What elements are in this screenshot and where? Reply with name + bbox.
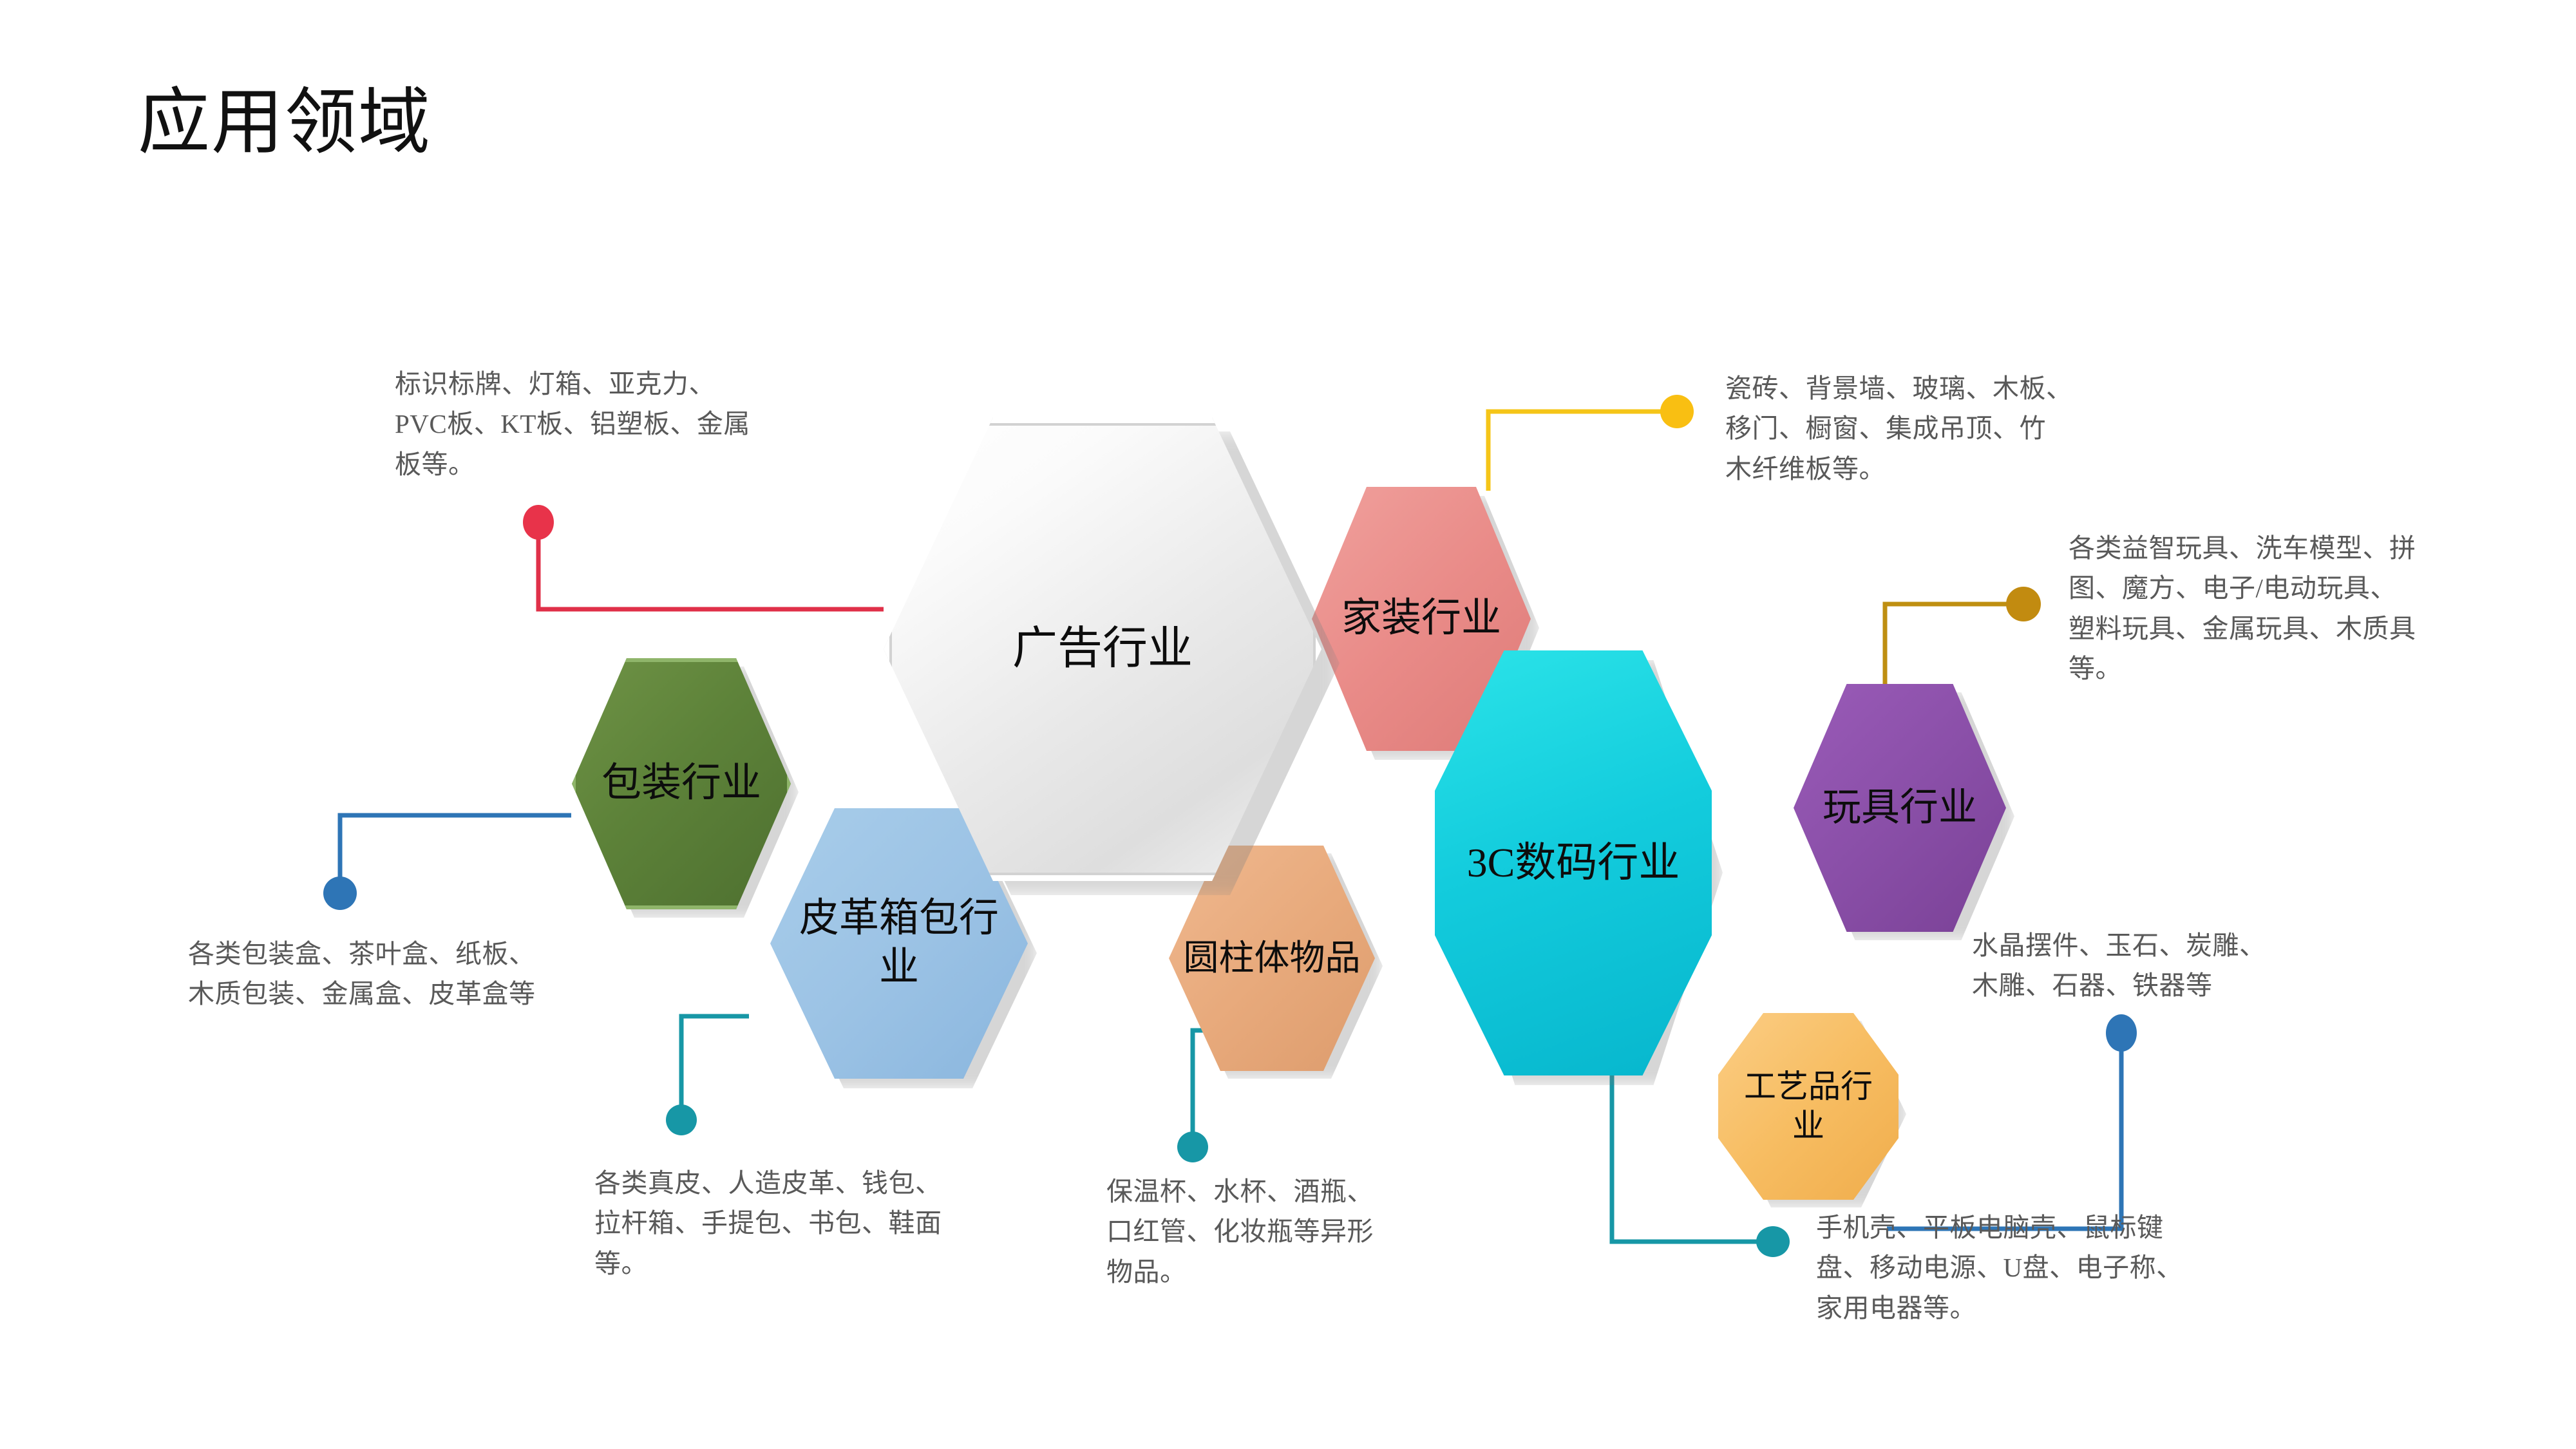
hexagon-label-packaging: 包装行业 (589, 759, 775, 808)
connector-dot-cylindrical-objects (1177, 1132, 1208, 1162)
connector-dot-leather-luggage (666, 1104, 697, 1135)
connector-packaging (323, 815, 571, 910)
hexagon-3c-digital[interactable]: 3C数码行业 (1435, 650, 1712, 1075)
description-advertising: 标识标牌、灯箱、亚克力、 PVC板、KT板、铝塑板、金属 板等。 (395, 364, 820, 484)
hexagon-label-3c-digital: 3C数码行业 (1450, 838, 1696, 888)
hexagon-label-handicrafts: 工艺品行业 (1718, 1067, 1899, 1146)
connector-home-decoration (1488, 395, 1694, 491)
connector-dot-handicrafts (2106, 1014, 2137, 1052)
connector-dot-3c-digital (1756, 1226, 1790, 1257)
connector-advertising (523, 505, 884, 609)
hexagon-label-home-decoration: 家装行业 (1329, 594, 1515, 643)
connector-toys (1885, 587, 2041, 696)
slide-canvas: 应用领域 (0, 0, 2576, 1449)
connector-dot-advertising (523, 505, 554, 540)
hexagon-label-leather-luggage: 皮革箱包行业 (770, 895, 1028, 992)
connector-dot-home-decoration (1660, 395, 1694, 428)
hexagon-label-advertising: 广告行业 (986, 621, 1219, 676)
hexagon-label-cylindrical-objects: 圆柱体物品 (1171, 936, 1372, 980)
connector-leather-luggage (666, 1016, 749, 1135)
hexagon-handicrafts[interactable]: 工艺品行业 (1718, 1013, 1899, 1200)
description-toys: 各类益智玩具、洗车模型、拼 图、魔方、电子/电动玩具、 塑料玩具、金属玩具、木质… (2069, 528, 2519, 688)
description-cylindrical-objects: 保温杯、水杯、酒瓶、 口红管、化妆瓶等异形 物品。 (1106, 1171, 1467, 1292)
description-handicrafts: 水晶摆件、玉石、炭雕、 木雕、石器、铁器等 (1972, 925, 2397, 1006)
description-3c-digital: 手机壳、平板电脑壳、鼠标键 盘、移动电源、U盘、电子称、 家用电器等。 (1816, 1207, 2267, 1328)
connector-dot-toys (2006, 587, 2041, 621)
connector-handicrafts (1887, 1014, 2137, 1229)
hexagon-label-toys: 玩具行业 (1810, 784, 1990, 831)
description-leather-luggage: 各类真皮、人造皮革、钱包、 拉杆箱、手提包、书包、鞋面 等。 (594, 1163, 1032, 1283)
description-home-decoration: 瓷砖、背景墙、玻璃、木板、 移门、橱窗、集成吊顶、竹 木纤维板等。 (1725, 368, 2163, 489)
description-packaging: 各类包装盒、茶叶盒、纸板、 木质包装、金属盒、皮革盒等 (188, 934, 652, 1014)
connector-dot-packaging (323, 876, 357, 910)
